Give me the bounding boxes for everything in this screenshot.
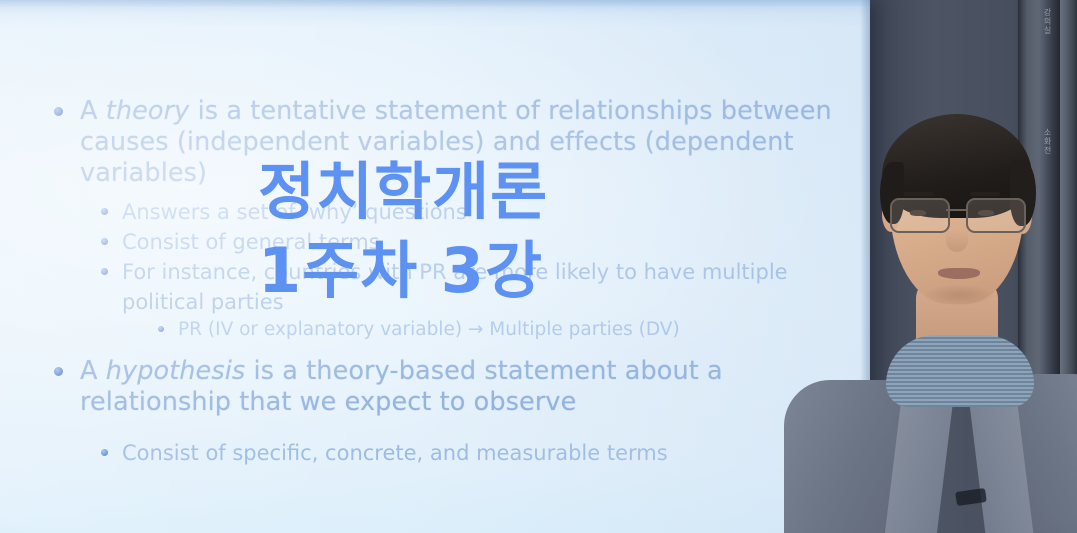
slide-subsubbullet-text: PR (IV or explanatory variable) → Multip…	[178, 319, 680, 340]
slide-subbullet-text: Answers a set of ‘why’ questions	[122, 200, 467, 224]
slide-bullet-hypothesis: A hypothesis is a theory-based statement…	[46, 356, 836, 418]
glasses-lens-right	[966, 198, 1026, 233]
bullet-dot-icon	[101, 268, 108, 275]
glasses-lens-left	[890, 198, 950, 233]
slide-bullet-text-rest: is a tentative statement of relationship…	[80, 96, 832, 188]
slide-subbullet-measurable-terms: Consist of specific, concrete, and measu…	[46, 438, 836, 468]
bullet-dot-icon	[101, 208, 108, 215]
slide-subbullet-general-terms: Consist of general terms	[46, 227, 836, 257]
slide-subbullet-text: For instance, countries with PR are more…	[122, 260, 788, 314]
slide-bullet-text-italic: theory	[106, 96, 190, 126]
slide-subbullet-text: Consist of general terms	[122, 230, 380, 254]
wall-sign-top: 강의실	[1027, 8, 1053, 35]
bullet-dot-icon	[54, 367, 63, 376]
bullet-dot-icon	[158, 326, 164, 332]
glasses-icon	[886, 198, 1028, 232]
bullet-dot-icon	[54, 107, 63, 116]
slide-subbullet-why-questions: Answers a set of ‘why’ questions	[46, 197, 836, 227]
nose	[946, 230, 968, 252]
spacer	[46, 420, 836, 438]
chin-shadow	[922, 284, 996, 306]
bullet-dot-icon	[101, 238, 108, 245]
mouth	[938, 268, 980, 279]
turtleneck-collar	[886, 335, 1034, 407]
bullet-dot-icon	[101, 449, 108, 456]
glasses-bridge	[946, 209, 966, 211]
slide-bullet-text-italic: hypothesis	[106, 356, 246, 386]
slide-subbullet-for-instance: For instance, countries with PR are more…	[46, 257, 836, 317]
slide-content: A theory is a tentative statement of rel…	[46, 96, 836, 468]
screen-top-band	[0, 0, 870, 7]
slide-bullet-text-a: A	[80, 356, 106, 386]
slide-bullet-theory: A theory is a tentative statement of rel…	[46, 96, 836, 189]
spacer	[46, 343, 836, 356]
projection-screen: A theory is a tentative statement of rel…	[0, 0, 870, 533]
eyebrow-right	[970, 192, 1000, 196]
slide-subsubbullet-pr-iv-dv: PR (IV or explanatory variable) → Multip…	[46, 317, 836, 343]
eyebrow-left	[904, 192, 934, 196]
slide-subbullet-text: Consist of specific, concrete, and measu…	[122, 441, 668, 465]
lecturer	[838, 92, 1077, 533]
lecture-video-frame: 강의실 소화전 비상구 A theory is a tentative stat…	[0, 0, 1077, 533]
slide-bullet-text-a: A	[80, 96, 106, 126]
